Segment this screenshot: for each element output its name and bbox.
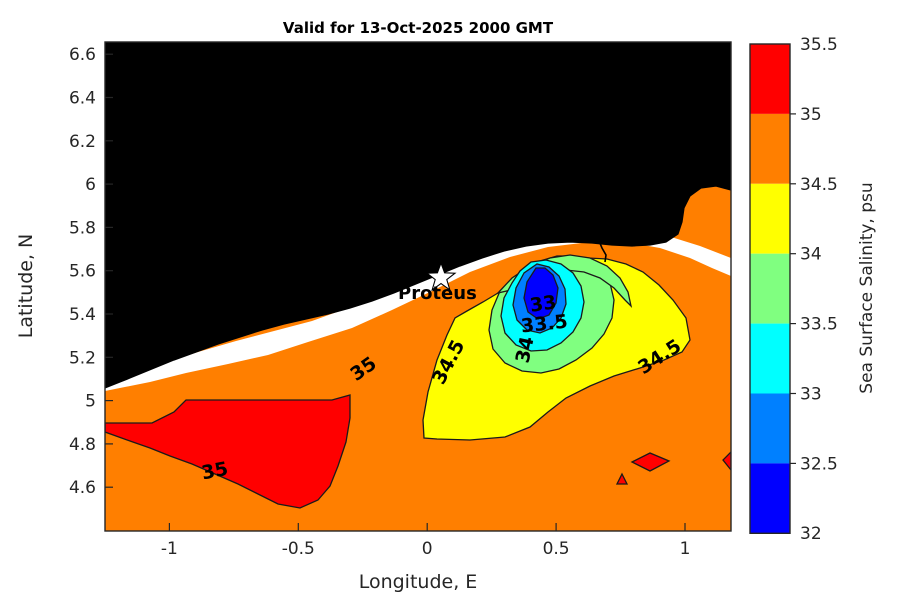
colorbar-band-34-5-35-0 bbox=[750, 114, 790, 184]
page-title: Valid for 13-Oct-2025 2000 GMT bbox=[283, 19, 554, 37]
x-tick-label-0-5: 0.5 bbox=[543, 539, 570, 559]
y-tick-label-5-6: 5.6 bbox=[69, 262, 96, 282]
colorbar-band-33-0-33-5 bbox=[750, 324, 790, 394]
y-axis-label: Latitude, N bbox=[15, 234, 37, 339]
y-tick-label-4-8: 4.8 bbox=[69, 435, 96, 455]
colorbar-tick-label-32: 32 bbox=[800, 524, 822, 544]
y-tick-label-5: 5 bbox=[85, 392, 96, 412]
y-tick-label-6-2: 6.2 bbox=[69, 132, 96, 152]
colorbar-tick-label-33-5: 33.5 bbox=[800, 315, 838, 335]
x-tick-label-0: 0 bbox=[422, 539, 433, 559]
colorbar-tick-label-32-5: 32.5 bbox=[800, 454, 838, 474]
colorbar-tick-label-34-5: 34.5 bbox=[800, 175, 838, 195]
x-tick-label-neg0-5: -0.5 bbox=[282, 539, 315, 559]
colorbar-tick-label-35-5: 35.5 bbox=[800, 35, 838, 55]
y-tick-label-4-6: 4.6 bbox=[69, 478, 96, 498]
y-tick-label-6: 6 bbox=[85, 175, 96, 195]
colorbar-band-35-0-35-5 bbox=[750, 44, 790, 114]
colorbar-tick-label-33: 33 bbox=[800, 385, 822, 405]
x-axis-label: Longitude, E bbox=[359, 571, 478, 593]
colorbar-band-34-0-34-5 bbox=[750, 184, 790, 254]
station-label-proteus: Proteus bbox=[398, 283, 477, 304]
colorbar-axis-label: Sea Surface Salinity, psu bbox=[857, 182, 877, 393]
colorbar-band-33-5-34-0 bbox=[750, 254, 790, 324]
colorbar-band-32-0-32-5 bbox=[750, 463, 790, 533]
colorbar-tick-label-35: 35 bbox=[800, 105, 822, 125]
y-tick-label-5-4: 5.4 bbox=[69, 305, 96, 325]
sss-contour-figure: Valid for 13-Oct-2025 2000 GMT bbox=[0, 0, 900, 600]
y-tick-label-5-8: 5.8 bbox=[69, 218, 96, 238]
colorbar-tick-label-34: 34 bbox=[800, 245, 822, 265]
y-tick-label-6-4: 6.4 bbox=[69, 89, 96, 109]
y-tick-label-5-2: 5.2 bbox=[69, 348, 96, 368]
x-tick-label-neg1: -1 bbox=[161, 539, 178, 559]
colorbar-band-32-5-33-0 bbox=[750, 394, 790, 464]
map-plot-area[interactable]: Proteus 33 33.5 34 34.5 34.5 35 35 bbox=[105, 42, 731, 531]
y-tick-label-6-6: 6.6 bbox=[69, 45, 96, 65]
x-tick-label-1: 1 bbox=[680, 539, 691, 559]
